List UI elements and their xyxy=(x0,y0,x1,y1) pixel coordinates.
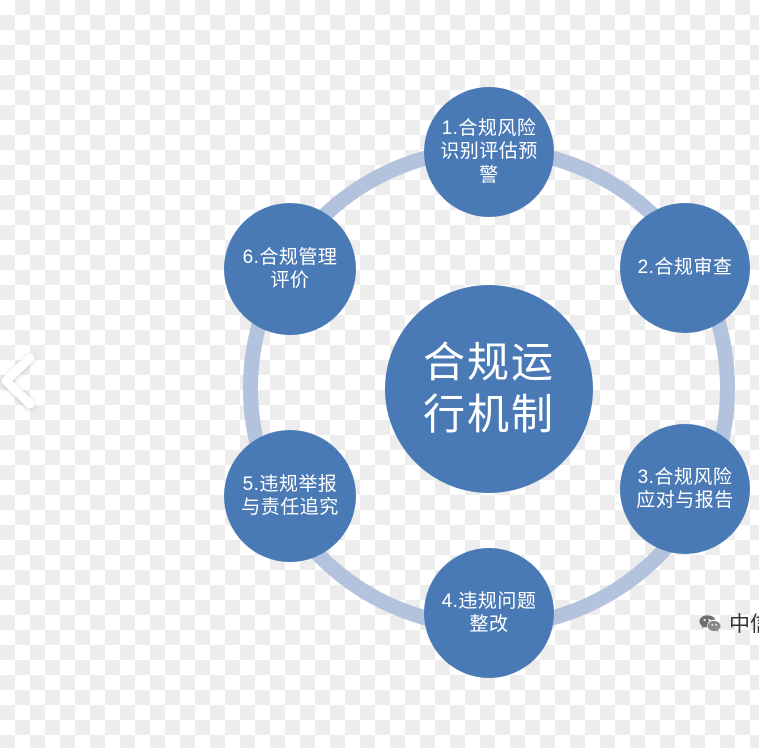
prev-arrow-button[interactable] xyxy=(0,352,38,410)
watermark-text: 中信 xyxy=(729,614,759,635)
node-label-6: 6.合规管理评价 xyxy=(224,246,356,292)
chevron-left-icon xyxy=(0,352,38,410)
node-label-1: 1.合规风险识别评估预警 xyxy=(424,117,554,187)
node-circle-1[interactable]: 1.合规风险识别评估预警 xyxy=(424,87,554,217)
node-circle-6[interactable]: 6.合规管理评价 xyxy=(224,203,356,335)
node-circle-2[interactable]: 2.合规审查 xyxy=(620,203,750,333)
node-label-4: 4.违规问题整改 xyxy=(424,590,554,636)
node-circle-4[interactable]: 4.违规问题整改 xyxy=(424,548,554,678)
node-circle-5[interactable]: 5.违规举报与责任追究 xyxy=(224,430,356,562)
node-label-5: 5.违规举报与责任追究 xyxy=(224,473,356,519)
hub-label: 合规运行机制 xyxy=(385,337,593,441)
wechat-icon xyxy=(698,612,722,636)
node-label-2: 2.合规审查 xyxy=(628,256,743,279)
diagram-canvas: 合规运行机制 1.合规风险识别评估预警 2.合规审查 3.合规风险应对与报告 4… xyxy=(0,0,759,748)
watermark: 中信 xyxy=(698,612,759,636)
node-label-3: 3.合规风险应对与报告 xyxy=(620,466,750,512)
node-circle-3[interactable]: 3.合规风险应对与报告 xyxy=(620,424,750,554)
hub-circle[interactable]: 合规运行机制 xyxy=(385,285,593,493)
